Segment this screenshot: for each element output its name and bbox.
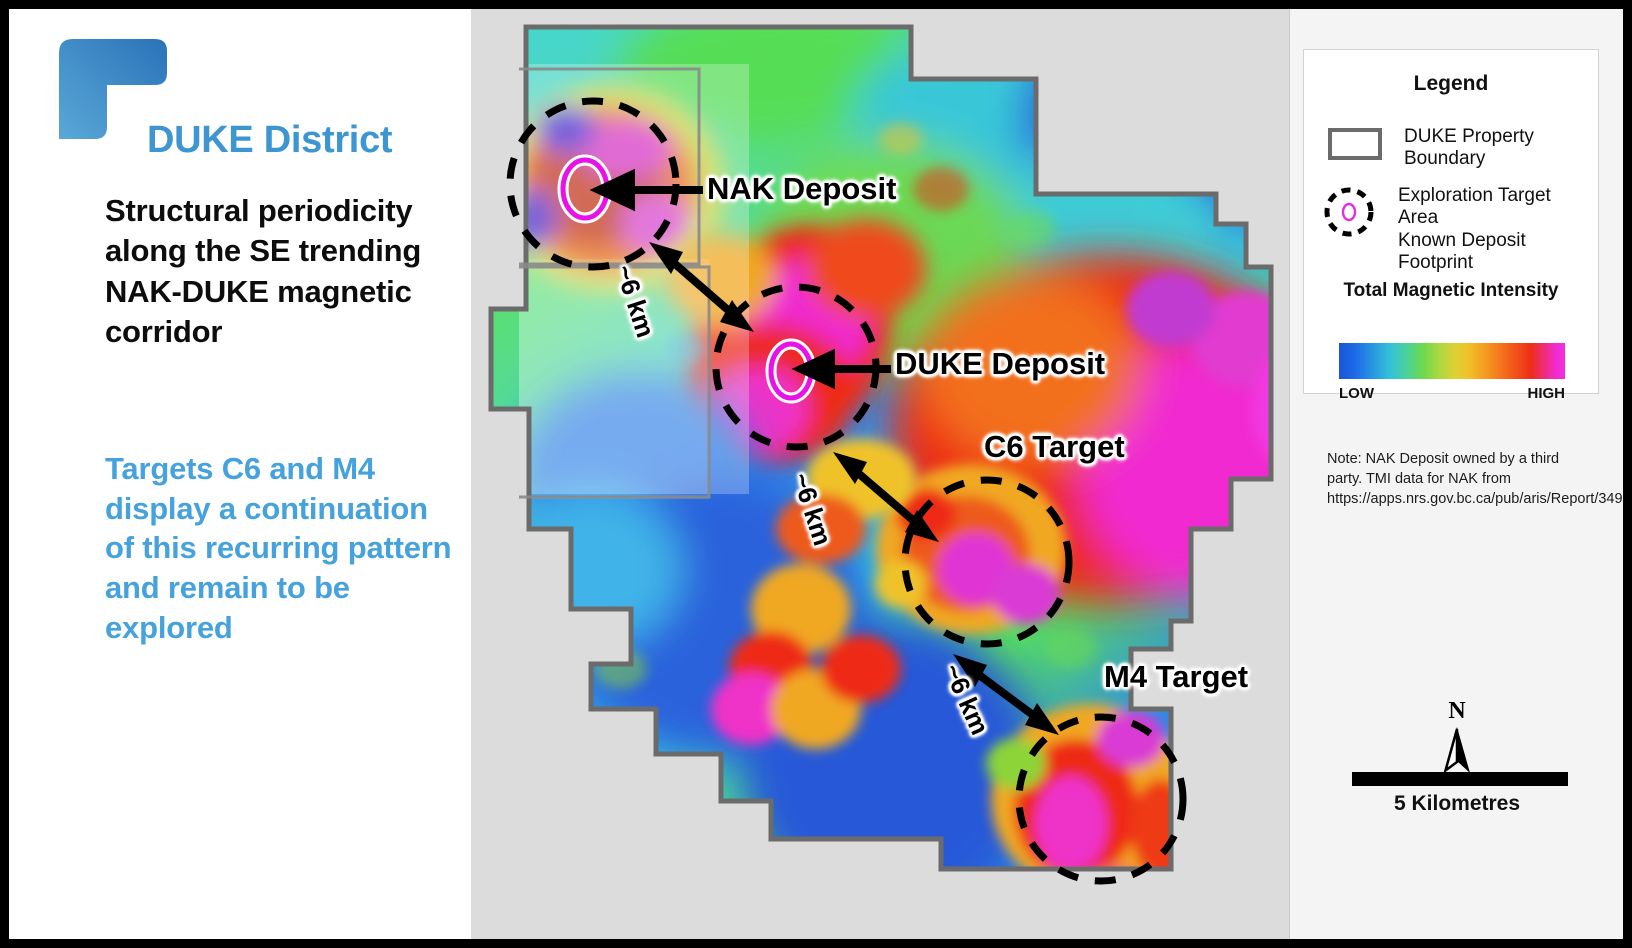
map-label-duke-deposit: DUKE Deposit	[895, 346, 1105, 382]
rectangle-outline-icon	[1328, 128, 1382, 160]
magnetic-map[interactable]: NAK Deposit DUKE Deposit C6 Target M4 Ta…	[471, 9, 1289, 939]
north-arrow-icon	[1437, 725, 1477, 775]
colorbar-high-label: HIGH	[1528, 385, 1566, 402]
legend-item-label: Exploration Target Area	[1398, 185, 1578, 230]
map-canvas	[471, 9, 1289, 939]
colorbar-title: Total Magnetic Intensity	[1304, 280, 1598, 303]
north-arrow-label: N	[1290, 699, 1623, 723]
left-text-panel: DUKE District Structural periodicity alo…	[9, 9, 471, 939]
poster-page: DUKE District Structural periodicity alo…	[0, 0, 1632, 948]
legend-item-label: DUKE Property Boundary	[1404, 126, 1564, 171]
map-label-m4-target: M4 Target	[1104, 659, 1248, 695]
legend-title: Legend	[1304, 72, 1598, 96]
tmi-colorbar	[1339, 343, 1565, 379]
scale-bar-label: 5 Kilometres	[1290, 792, 1623, 816]
subhead-text: Targets C6 and M4 display a continuation…	[105, 449, 455, 647]
right-legend-panel: Legend DUKE Property Boundary Exploratio…	[1289, 9, 1623, 939]
legend-item-property-boundary: DUKE Property Boundary	[1328, 126, 1564, 171]
dashed-circle-icon	[1322, 185, 1376, 239]
legend-item-sublabel: Known Deposit Footprint	[1398, 230, 1578, 275]
source-note: Note: NAK Deposit owned by a third party…	[1327, 449, 1563, 509]
poster-inner: DUKE District Structural periodicity alo…	[9, 9, 1623, 939]
map-label-nak-deposit: NAK Deposit	[707, 171, 896, 207]
legend-item-exploration-target: Exploration Target Area Known Deposit Fo…	[1322, 185, 1578, 275]
map-label-c6-target: C6 Target	[984, 429, 1125, 465]
legend-box: Legend DUKE Property Boundary Exploratio…	[1303, 49, 1599, 394]
colorbar-low-label: LOW	[1339, 385, 1374, 402]
brand-title: DUKE District	[147, 119, 392, 162]
headline-text: Structural periodicity along the SE tren…	[105, 191, 445, 352]
brand-header: DUKE District	[47, 31, 447, 141]
north-arrow: N	[1290, 699, 1623, 775]
scale-bar	[1352, 772, 1568, 786]
